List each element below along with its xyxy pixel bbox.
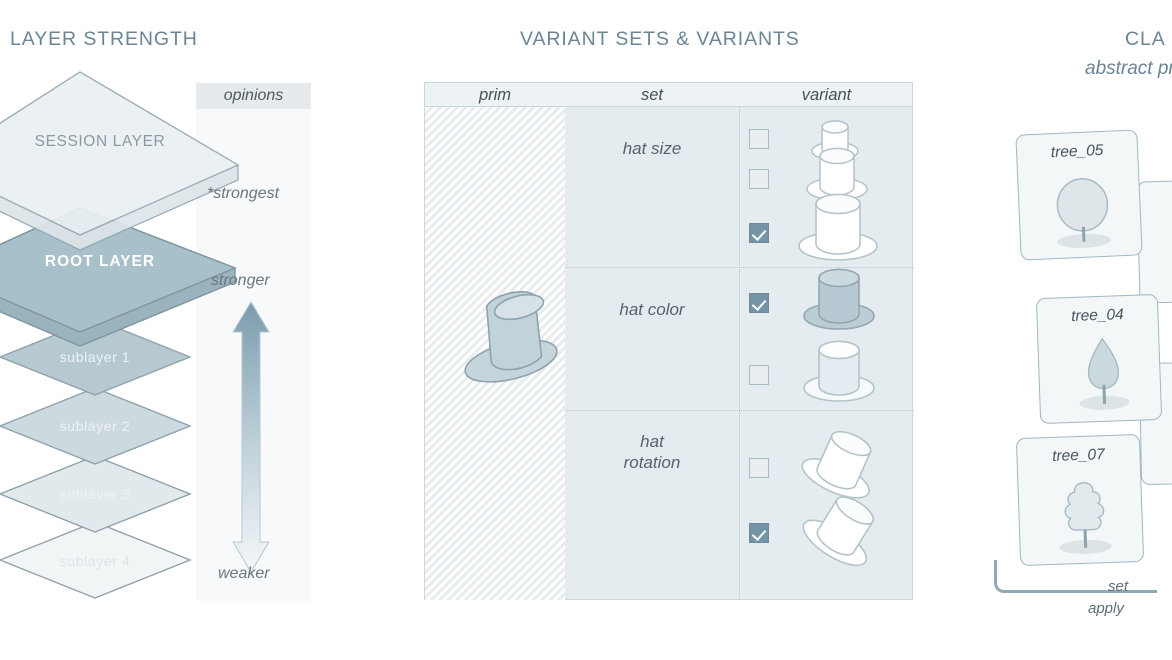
layer-slab-sublayer-3 [0,456,190,532]
arrow-weaker-label: weaker [218,565,270,583]
variant-checkbox-hat-size-2[interactable] [749,169,769,189]
set-label-hat-rotation-line2: rotation [624,453,681,472]
set-label-hat-color: hat color [565,299,739,320]
set-label-hat-size: hat size [565,138,739,159]
classes-note-2: apply [1088,600,1124,617]
class-card-tree-05[interactable]: tree_05 [1015,129,1142,260]
class-card-tree-07-label: tree_07 [1017,445,1140,467]
variant-table-header: prim set variant [425,83,912,107]
class-card-tree-04-label: tree_04 [1037,305,1158,327]
variant-sets-title: VARIANT SETS & VARIANTS [520,28,800,51]
variant-checkbox-hat-rotation-2[interactable] [749,523,769,543]
strongest-note: *strongest [207,185,279,203]
column-header-variant: variant [739,83,914,107]
classes-panel: CLA abstract pri tree tree_05 t [960,0,1172,660]
hat-tilt-right-icon [787,488,892,570]
hat-large-icon [787,186,889,264]
variant-table: prim set variant hat size [424,82,913,600]
hat-light-icon [793,333,885,403]
variant-checkbox-hat-rotation-1[interactable] [749,458,769,478]
hat-dark-icon [793,261,885,331]
column-header-prim: prim [425,83,565,107]
classes-bracket [994,560,1157,593]
layer-slab-sublayer-4 [0,522,190,598]
variant-checkbox-hat-size-3[interactable] [749,223,769,243]
class-card-tree-05-label: tree_05 [1017,140,1138,163]
strength-arrow [233,302,269,572]
tree-leafy-icon [1042,469,1127,558]
set-label-hat-rotation: hat rotation [565,431,739,474]
variant-sets-panel: VARIANT SETS & VARIANTS prim set variant… [405,0,945,660]
variant-checkbox-hat-color-1[interactable] [749,293,769,313]
row-divider-2 [565,410,914,411]
classes-title: CLA [1125,28,1166,51]
layer-slab-sublayer-2 [0,388,190,464]
set-label-hat-rotation-line1: hat [640,432,664,451]
tree-bushy-icon [1160,212,1172,296]
variant-checkbox-hat-color-2[interactable] [749,365,769,385]
layer-stack [0,60,280,620]
class-card-tree-07[interactable]: tree_07 [1016,434,1144,566]
tree-teardrop-icon [1062,327,1145,416]
layer-strength-panel: LAYER STRENGTH opinions [0,0,330,660]
tree-partial-icon [1161,396,1172,477]
classes-subtitle: abstract pri [1085,58,1172,80]
classes-note-1: set [1108,578,1128,595]
top-hat-icon [447,263,567,388]
tree-round-icon [1040,165,1126,252]
layer-slab-session [0,72,238,250]
column-divider [739,107,740,600]
column-header-set: set [565,83,739,107]
class-card-tree-label: tree [1138,189,1172,210]
layer-strength-title: LAYER STRENGTH [10,28,198,51]
class-card-tree-04[interactable]: tree_04 [1036,294,1162,424]
arrow-stronger-label: stronger [211,272,270,290]
variant-checkbox-hat-size-1[interactable] [749,129,769,149]
diagram-canvas: LAYER STRENGTH opinions [0,0,1172,660]
